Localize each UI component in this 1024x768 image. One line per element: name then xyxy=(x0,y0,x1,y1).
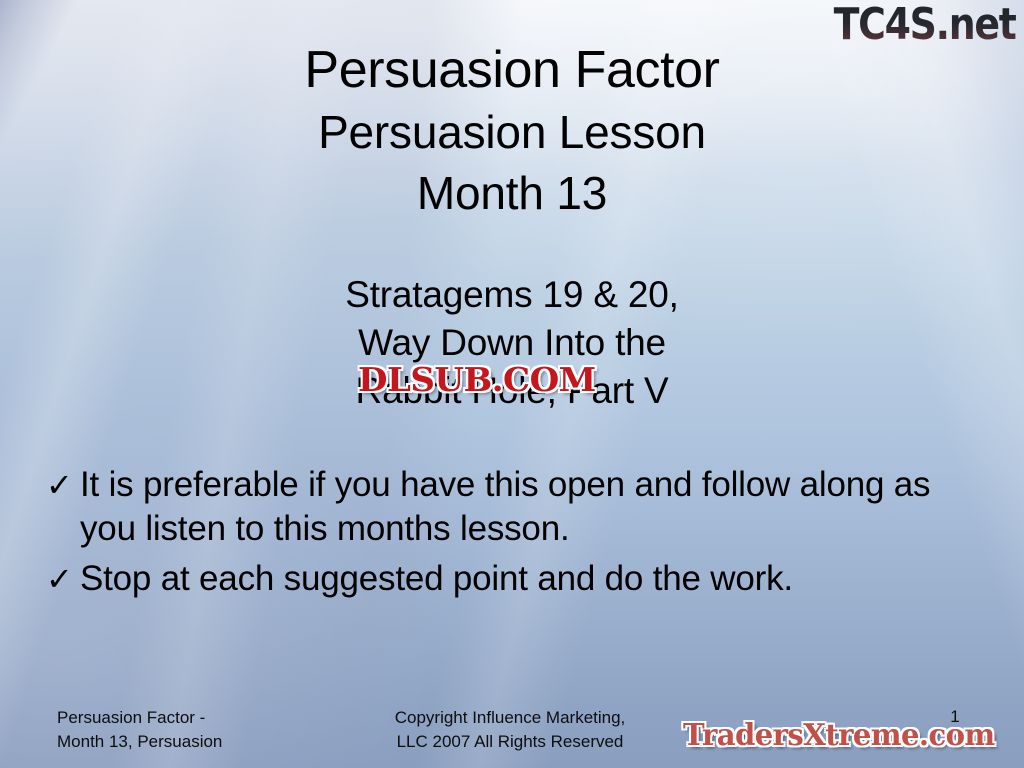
footer-left: Persuasion Factor - Month 13, Persuasion xyxy=(57,706,222,754)
list-item: ✓ It is preferable if you have this open… xyxy=(46,463,946,551)
title-line-3: Month 13 xyxy=(0,163,1024,224)
footer-left-line-1: Persuasion Factor - xyxy=(57,706,222,730)
bullet-list: ✓ It is preferable if you have this open… xyxy=(46,463,946,607)
list-item: ✓ Stop at each suggested point and do th… xyxy=(46,557,946,601)
presentation-slide: Persuasion Factor Persuasion Lesson Mont… xyxy=(0,0,1024,768)
copyright-line-1: Copyright Influence Marketing, xyxy=(330,706,690,730)
tradersxtreme-logo: TradersXtreme.com xyxy=(683,716,995,756)
slide-title: Persuasion Factor Persuasion Lesson Mont… xyxy=(0,38,1024,224)
checkmark-icon: ✓ xyxy=(46,463,80,507)
copyright-line-2: LLC 2007 All Rights Reserved xyxy=(330,730,690,754)
bullet-text: It is preferable if you have this open a… xyxy=(80,463,946,551)
subtitle-line-1: Stratagems 19 & 20, xyxy=(0,271,1024,319)
checkmark-icon: ✓ xyxy=(46,557,80,601)
title-line-2: Persuasion Lesson xyxy=(0,102,1024,163)
tc4s-watermark: TC4S.net xyxy=(834,0,1016,52)
dlsub-watermark: DLSUB.COM xyxy=(358,360,596,400)
footer-copyright: Copyright Influence Marketing, LLC 2007 … xyxy=(330,706,690,754)
bullet-text: Stop at each suggested point and do the … xyxy=(80,557,946,601)
footer-left-line-2: Month 13, Persuasion xyxy=(57,730,222,754)
